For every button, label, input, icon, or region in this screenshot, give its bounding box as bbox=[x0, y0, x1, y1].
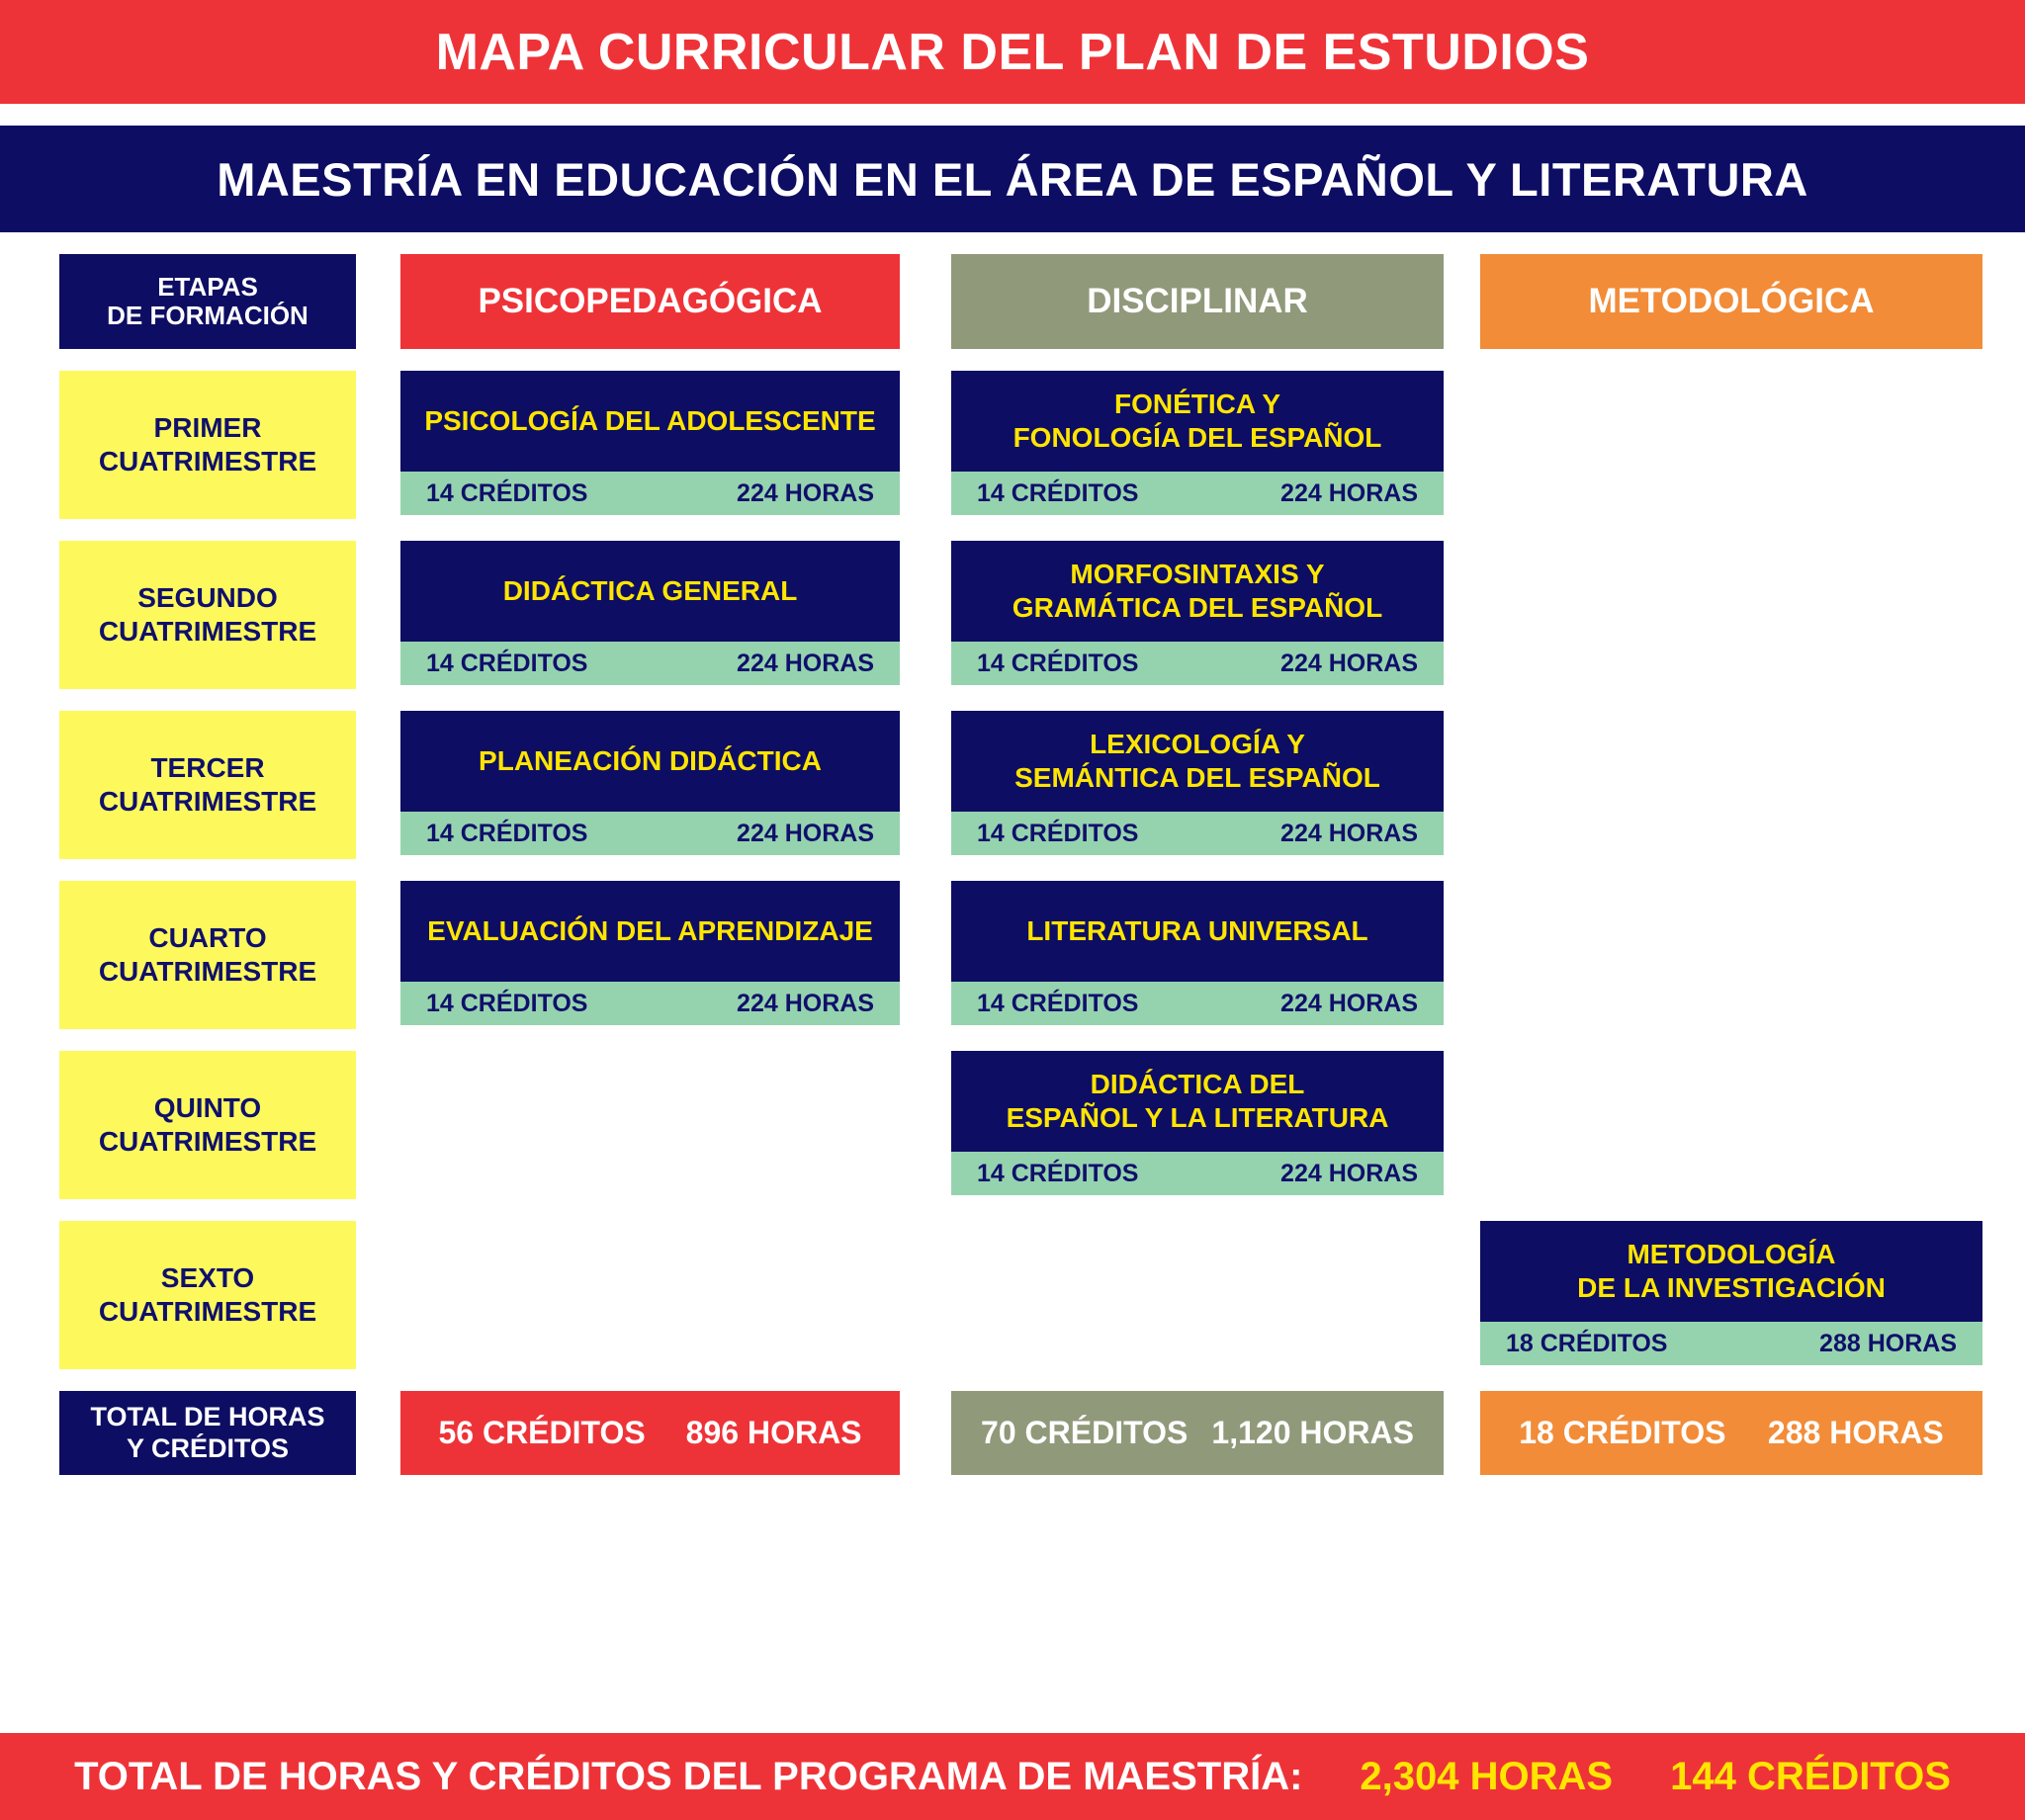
footer-total-credits: 144 CRÉDITOS bbox=[1670, 1755, 1951, 1799]
stage-cell: CUARTOCUATRIMESTRE bbox=[59, 881, 356, 1029]
empty-cell-psicopedagogica bbox=[400, 1221, 900, 1365]
column-header-metodologica: METODOLÓGICA bbox=[1480, 254, 1982, 349]
stage-label-line1: TERCER bbox=[99, 751, 316, 785]
course-title: METODOLOGÍADE LA INVESTIGACIÓN bbox=[1480, 1221, 1982, 1322]
stage-cell: QUINTOCUATRIMESTRE bbox=[59, 1051, 356, 1199]
curriculum-grid: ETAPAS DE FORMACIÓN PSICOPEDAGÓGICA DISC… bbox=[0, 254, 2025, 1475]
course-credits: 14 CRÉDITOS bbox=[426, 479, 587, 508]
stage-label-line1: CUARTO bbox=[99, 921, 316, 955]
course-hours: 224 HORAS bbox=[737, 820, 874, 848]
course-title: DIDÁCTICA GENERAL bbox=[400, 541, 900, 642]
course-title: PSICOLOGÍA DEL ADOLESCENTE bbox=[400, 371, 900, 472]
course-hours: 224 HORAS bbox=[1280, 820, 1418, 848]
course-title-line2: DE LA INVESTIGACIÓN bbox=[1577, 1271, 1886, 1305]
empty-cell-metodologica bbox=[1480, 541, 1982, 685]
totals-metodologica-credits: 18 CRÉDITOS bbox=[1519, 1415, 1725, 1451]
footer-total-hours: 2,304 HORAS bbox=[1360, 1755, 1613, 1799]
course-title: LITERATURA UNIVERSAL bbox=[951, 881, 1444, 982]
empty-cell-metodologica bbox=[1480, 1051, 1982, 1195]
course-title-line1: EVALUACIÓN DEL APRENDIZAJE bbox=[427, 914, 873, 948]
course-credits: 14 CRÉDITOS bbox=[426, 820, 587, 848]
course-credits: 18 CRÉDITOS bbox=[1506, 1330, 1667, 1358]
course-meta: 14 CRÉDITOS224 HORAS bbox=[400, 812, 900, 855]
course-title-line1: DIDÁCTICA GENERAL bbox=[503, 574, 798, 608]
stage-label-line2: CUATRIMESTRE bbox=[99, 615, 316, 649]
column-header-stages-line2: DE FORMACIÓN bbox=[107, 302, 308, 330]
course-title-line2: FONOLOGÍA DEL ESPAÑOL bbox=[1013, 421, 1382, 455]
course-card-psicopedagogica[interactable]: PSICOLOGÍA DEL ADOLESCENTE14 CRÉDITOS224… bbox=[400, 371, 900, 515]
totals-label-line1: TOTAL DE HORAS bbox=[90, 1402, 324, 1433]
page-title: MAPA CURRICULAR DEL PLAN DE ESTUDIOS bbox=[436, 23, 1590, 82]
course-credits: 14 CRÉDITOS bbox=[977, 820, 1138, 848]
course-title: PLANEACIÓN DIDÁCTICA bbox=[400, 711, 900, 812]
stage-label-line2: CUATRIMESTRE bbox=[99, 1295, 316, 1329]
banner-divider bbox=[0, 104, 2025, 126]
stage-cell: SEXTOCUATRIMESTRE bbox=[59, 1221, 356, 1369]
column-header-psicopedagogica-label: PSICOPEDAGÓGICA bbox=[478, 282, 822, 320]
course-hours: 224 HORAS bbox=[1280, 1160, 1418, 1188]
semester-row: PRIMERCUATRIMESTREPSICOLOGÍA DEL ADOLESC… bbox=[0, 371, 2025, 519]
course-title-line1: LEXICOLOGÍA Y bbox=[1014, 728, 1380, 761]
totals-psicopedagogica-credits: 56 CRÉDITOS bbox=[438, 1415, 645, 1451]
course-hours: 224 HORAS bbox=[1280, 479, 1418, 508]
course-title: EVALUACIÓN DEL APRENDIZAJE bbox=[400, 881, 900, 982]
course-meta: 14 CRÉDITOS224 HORAS bbox=[400, 642, 900, 685]
totals-label-line2: Y CRÉDITOS bbox=[90, 1433, 324, 1465]
stage-cell: SEGUNDOCUATRIMESTRE bbox=[59, 541, 356, 689]
stage-label-line2: CUATRIMESTRE bbox=[99, 955, 316, 989]
course-title-line2: ESPAÑOL Y LA LITERATURA bbox=[1007, 1101, 1389, 1135]
semester-row: TERCERCUATRIMESTREPLANEACIÓN DIDÁCTICA14… bbox=[0, 711, 2025, 859]
stage-label-line1: SEGUNDO bbox=[99, 581, 316, 615]
course-hours: 224 HORAS bbox=[737, 650, 874, 678]
column-header-metodologica-label: METODOLÓGICA bbox=[1588, 282, 1874, 320]
course-hours: 224 HORAS bbox=[737, 990, 874, 1018]
program-title-banner: MAESTRÍA EN EDUCACIÓN EN EL ÁREA DE ESPA… bbox=[0, 126, 2025, 232]
column-header-stages: ETAPAS DE FORMACIÓN bbox=[59, 254, 356, 349]
course-meta: 18 CRÉDITOS288 HORAS bbox=[1480, 1322, 1982, 1365]
course-meta: 14 CRÉDITOS224 HORAS bbox=[951, 982, 1444, 1025]
course-credits: 14 CRÉDITOS bbox=[426, 650, 587, 678]
course-title: FONÉTICA YFONOLOGÍA DEL ESPAÑOL bbox=[951, 371, 1444, 472]
course-title-line1: FONÉTICA Y bbox=[1013, 388, 1382, 421]
totals-disciplinar: 70 CRÉDITOS 1,120 HORAS bbox=[951, 1391, 1444, 1475]
course-meta: 14 CRÉDITOS224 HORAS bbox=[400, 472, 900, 515]
empty-cell-psicopedagogica bbox=[400, 1051, 900, 1195]
semester-row: SEGUNDOCUATRIMESTREDIDÁCTICA GENERAL14 C… bbox=[0, 541, 2025, 689]
course-card-disciplinar[interactable]: FONÉTICA YFONOLOGÍA DEL ESPAÑOL14 CRÉDIT… bbox=[951, 371, 1444, 515]
course-meta: 14 CRÉDITOS224 HORAS bbox=[400, 982, 900, 1025]
semester-row: SEXTOCUATRIMESTREMETODOLOGÍADE LA INVEST… bbox=[0, 1221, 2025, 1369]
course-credits: 14 CRÉDITOS bbox=[977, 650, 1138, 678]
semester-row: QUINTOCUATRIMESTREDIDÁCTICA DELESPAÑOL Y… bbox=[0, 1051, 2025, 1199]
course-hours: 224 HORAS bbox=[1280, 990, 1418, 1018]
course-card-psicopedagogica[interactable]: DIDÁCTICA GENERAL14 CRÉDITOS224 HORAS bbox=[400, 541, 900, 685]
column-header-disciplinar: DISCIPLINAR bbox=[951, 254, 1444, 349]
totals-label: TOTAL DE HORAS Y CRÉDITOS bbox=[59, 1391, 356, 1475]
column-header-disciplinar-label: DISCIPLINAR bbox=[1087, 282, 1308, 320]
course-title: MORFOSINTAXIS YGRAMÁTICA DEL ESPAÑOL bbox=[951, 541, 1444, 642]
course-title-line1: LITERATURA UNIVERSAL bbox=[1026, 914, 1367, 948]
course-title: DIDÁCTICA DELESPAÑOL Y LA LITERATURA bbox=[951, 1051, 1444, 1152]
program-totals-footer: TOTAL DE HORAS Y CRÉDITOS DEL PROGRAMA D… bbox=[0, 1733, 2025, 1820]
page-title-banner: MAPA CURRICULAR DEL PLAN DE ESTUDIOS bbox=[0, 0, 2025, 104]
totals-disciplinar-credits: 70 CRÉDITOS bbox=[981, 1415, 1188, 1451]
course-hours: 288 HORAS bbox=[1819, 1330, 1957, 1358]
column-header-stages-line1: ETAPAS bbox=[107, 273, 308, 302]
column-header-row: ETAPAS DE FORMACIÓN PSICOPEDAGÓGICA DISC… bbox=[0, 254, 2025, 349]
stage-label-line2: CUATRIMESTRE bbox=[99, 1125, 316, 1159]
course-title-line1: MORFOSINTAXIS Y bbox=[1012, 558, 1382, 591]
course-card-disciplinar[interactable]: MORFOSINTAXIS YGRAMÁTICA DEL ESPAÑOL14 C… bbox=[951, 541, 1444, 685]
course-credits: 14 CRÉDITOS bbox=[977, 479, 1138, 508]
totals-psicopedagogica-hours: 896 HORAS bbox=[686, 1415, 862, 1451]
totals-disciplinar-hours: 1,120 HORAS bbox=[1211, 1415, 1414, 1451]
course-credits: 14 CRÉDITOS bbox=[426, 990, 587, 1018]
stage-cell: TERCERCUATRIMESTRE bbox=[59, 711, 356, 859]
stage-cell: PRIMERCUATRIMESTRE bbox=[59, 371, 356, 519]
course-card-metodologica[interactable]: METODOLOGÍADE LA INVESTIGACIÓN18 CRÉDITO… bbox=[1480, 1221, 1982, 1365]
course-hours: 224 HORAS bbox=[737, 479, 874, 508]
course-title-line1: DIDÁCTICA DEL bbox=[1007, 1068, 1389, 1101]
totals-row: TOTAL DE HORAS Y CRÉDITOS 56 CRÉDITOS 89… bbox=[0, 1391, 2025, 1475]
totals-metodologica-hours: 288 HORAS bbox=[1768, 1415, 1944, 1451]
stage-label-line1: SEXTO bbox=[99, 1261, 316, 1295]
course-meta: 14 CRÉDITOS224 HORAS bbox=[951, 642, 1444, 685]
semester-rows: PRIMERCUATRIMESTREPSICOLOGÍA DEL ADOLESC… bbox=[0, 371, 2025, 1369]
semester-row: CUARTOCUATRIMESTREEVALUACIÓN DEL APRENDI… bbox=[0, 881, 2025, 1029]
stage-label-line2: CUATRIMESTRE bbox=[99, 445, 316, 478]
totals-psicopedagogica: 56 CRÉDITOS 896 HORAS bbox=[400, 1391, 900, 1475]
course-title-line1: METODOLOGÍA bbox=[1577, 1238, 1886, 1271]
course-card-disciplinar[interactable]: DIDÁCTICA DELESPAÑOL Y LA LITERATURA14 C… bbox=[951, 1051, 1444, 1195]
course-meta: 14 CRÉDITOS224 HORAS bbox=[951, 472, 1444, 515]
footer-label: TOTAL DE HORAS Y CRÉDITOS DEL PROGRAMA D… bbox=[74, 1755, 1302, 1799]
course-title: LEXICOLOGÍA YSEMÁNTICA DEL ESPAÑOL bbox=[951, 711, 1444, 812]
empty-cell-metodologica bbox=[1480, 881, 1982, 1025]
course-card-psicopedagogica[interactable]: PLANEACIÓN DIDÁCTICA14 CRÉDITOS224 HORAS bbox=[400, 711, 900, 855]
course-card-disciplinar[interactable]: LITERATURA UNIVERSAL14 CRÉDITOS224 HORAS bbox=[951, 881, 1444, 1025]
column-header-psicopedagogica: PSICOPEDAGÓGICA bbox=[400, 254, 900, 349]
course-title-line2: SEMÁNTICA DEL ESPAÑOL bbox=[1014, 761, 1380, 795]
course-meta: 14 CRÉDITOS224 HORAS bbox=[951, 1152, 1444, 1195]
course-title-line1: PSICOLOGÍA DEL ADOLESCENTE bbox=[424, 404, 875, 438]
program-title: MAESTRÍA EN EDUCACIÓN EN EL ÁREA DE ESPA… bbox=[217, 152, 1808, 207]
stage-label-line2: CUATRIMESTRE bbox=[99, 785, 316, 819]
empty-cell-metodologica bbox=[1480, 711, 1982, 855]
empty-cell-metodologica bbox=[1480, 371, 1982, 515]
stage-label-line1: QUINTO bbox=[99, 1091, 316, 1125]
totals-metodologica: 18 CRÉDITOS 288 HORAS bbox=[1480, 1391, 1982, 1475]
course-title-line1: PLANEACIÓN DIDÁCTICA bbox=[479, 744, 822, 778]
course-meta: 14 CRÉDITOS224 HORAS bbox=[951, 812, 1444, 855]
course-card-disciplinar[interactable]: LEXICOLOGÍA YSEMÁNTICA DEL ESPAÑOL14 CRÉ… bbox=[951, 711, 1444, 855]
course-card-psicopedagogica[interactable]: EVALUACIÓN DEL APRENDIZAJE14 CRÉDITOS224… bbox=[400, 881, 900, 1025]
course-credits: 14 CRÉDITOS bbox=[977, 1160, 1138, 1188]
course-title-line2: GRAMÁTICA DEL ESPAÑOL bbox=[1012, 591, 1382, 625]
empty-cell-disciplinar bbox=[951, 1221, 1444, 1365]
course-credits: 14 CRÉDITOS bbox=[977, 990, 1138, 1018]
stage-label-line1: PRIMER bbox=[99, 411, 316, 445]
course-hours: 224 HORAS bbox=[1280, 650, 1418, 678]
